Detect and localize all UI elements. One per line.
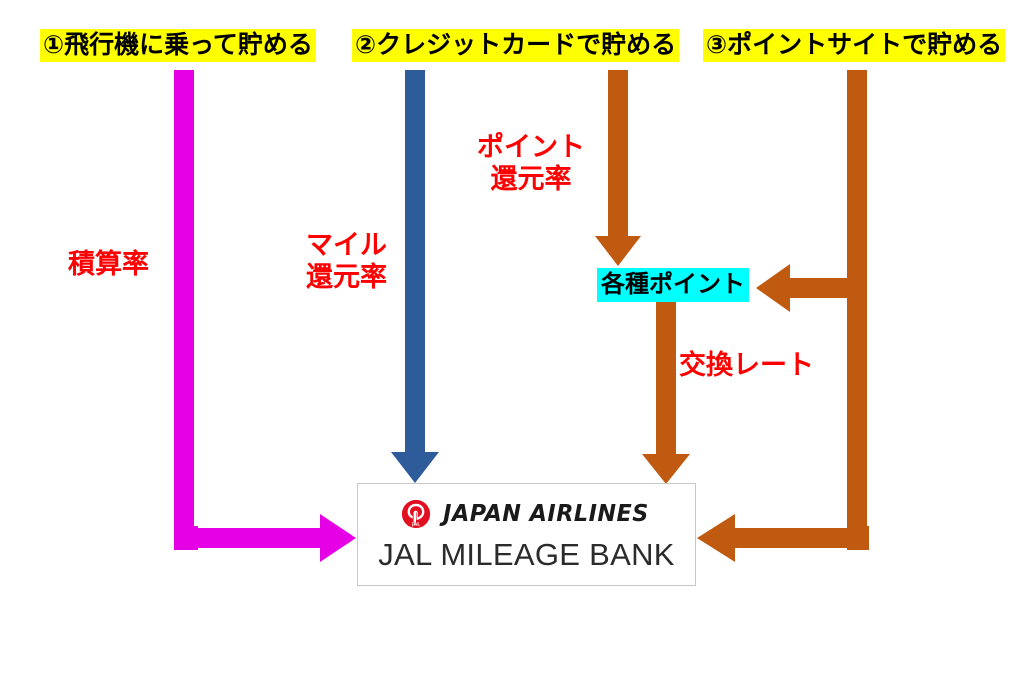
source-label-point-site: ③ポイントサイトで貯める <box>703 30 1005 60</box>
source-label-credit-text: ②クレジットカードで貯める <box>352 29 679 62</box>
arrow-credit-to-points <box>595 70 641 266</box>
jal-mileage-bank-box: JAL JAPAN AIRLINES JAL MILEAGE BANK <box>357 483 696 586</box>
diagram-canvas: ①飛行機に乗って貯める ②クレジットカードで貯める ③ポイントサイトで貯める 積… <box>0 0 1024 683</box>
rate-label-mile-return-line-2: 還元率 <box>306 262 387 294</box>
source-label-flight: ①飛行機に乗って貯める <box>40 30 316 60</box>
jal-wordmark: JAPAN AIRLINES <box>443 501 649 527</box>
rate-label-exchange-rate: 交換レート <box>679 350 814 382</box>
rate-label-point-return-line-1: ポイント <box>477 132 585 164</box>
rate-label-mile-return-line-1: マイル <box>306 230 387 262</box>
arrow-pointsite-to-points <box>756 70 867 312</box>
rate-label-point-return: ポイント 還元率 <box>477 132 585 196</box>
node-various-points-text: 各種ポイント <box>597 268 749 302</box>
arrow-pointsite-to-jal <box>697 288 869 562</box>
source-label-credit: ②クレジットカードで貯める <box>352 30 679 60</box>
jal-brand-row: JAL JAPAN AIRLINES <box>401 499 652 529</box>
arrow-points-to-jal <box>642 300 690 484</box>
rate-label-point-return-line-2: 還元率 <box>477 164 585 196</box>
source-label-point-site-text: ③ポイントサイトで貯める <box>703 29 1005 62</box>
arrow-flight-to-jal <box>174 70 356 562</box>
rate-label-accrual-line-1: 積算率 <box>68 249 149 281</box>
node-various-points: 各種ポイント <box>597 270 749 298</box>
jal-mileage-bank-title: JAL MILEAGE BANK <box>378 537 675 573</box>
rate-label-mile-return: マイル 還元率 <box>306 230 387 294</box>
source-label-flight-text: ①飛行機に乗って貯める <box>40 29 316 62</box>
jal-tsurumaru-logo-icon: JAL <box>401 499 431 529</box>
rate-label-exchange-rate-line-1: 交換レート <box>679 350 814 382</box>
arrow-credit-to-jal <box>391 70 439 483</box>
rate-label-accrual: 積算率 <box>68 249 149 281</box>
jal-logo-text: JAL <box>411 521 420 527</box>
